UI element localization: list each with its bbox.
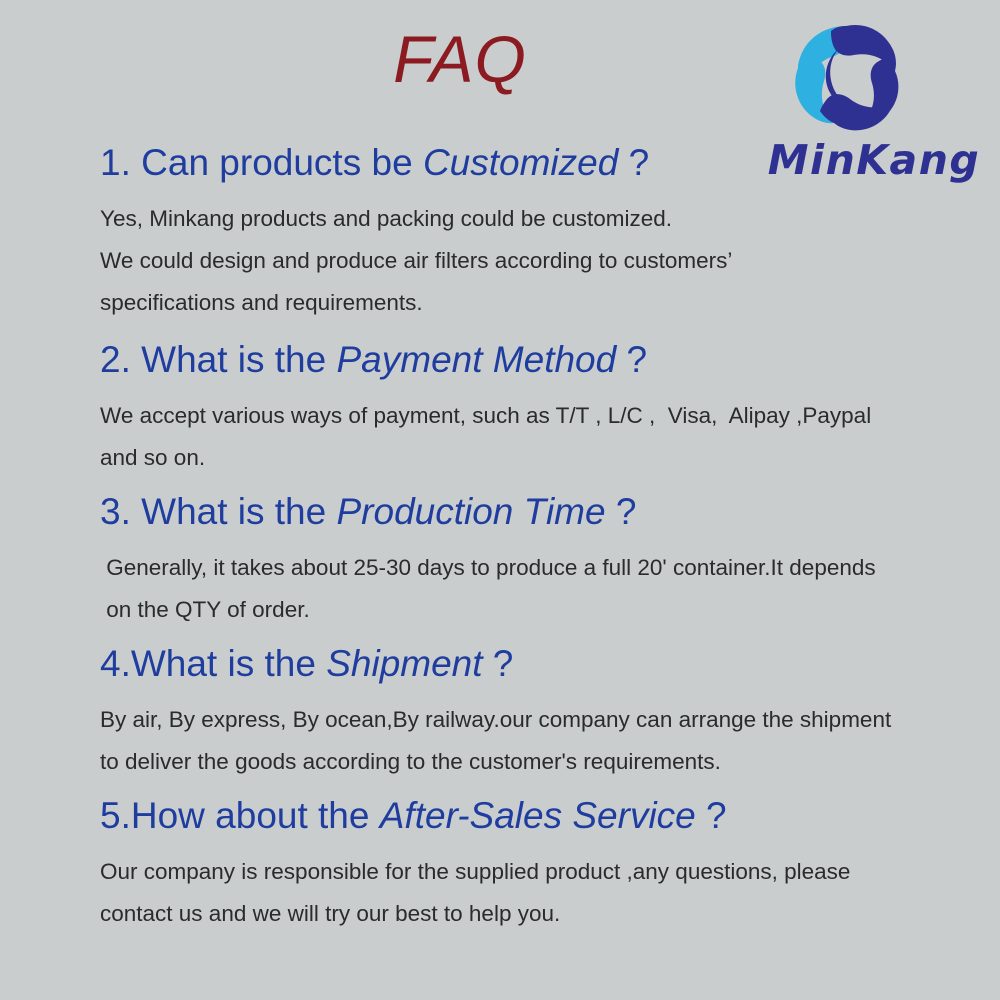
faq-question-emphasis: Payment Method [337,339,617,380]
faq-answer-line: and so on. [100,437,980,479]
faq-answer: Our company is responsible for the suppl… [0,843,1000,935]
faq-question-tail: ? [616,339,647,380]
faq-question-emphasis: Shipment [326,643,482,684]
faq-answer-line: We accept various ways of payment, such … [100,395,980,437]
faq-question-number: 1. [100,142,141,183]
faq-item: 2. What is the Payment Method ? We accep… [0,324,1000,479]
faq-answer-line: contact us and we will try our best to h… [100,893,980,935]
faq-question-emphasis: After-Sales Service [380,795,696,836]
faq-answer-line: on the QTY of order. [100,589,980,631]
minkang-swirl-logo-icon [784,14,908,138]
faq-answer-line: Yes, Minkang products and packing could … [100,198,980,240]
faq-question-emphasis: Customized [423,142,618,183]
faq-question-tail: ? [618,142,649,183]
faq-question-lead: How about the [131,795,380,836]
faq-question: 3. What is the Production Time ? [0,479,1000,539]
faq-item: 1. Can products be Customized ? Yes, Min… [0,132,1000,324]
faq-question-emphasis: Production Time [337,491,606,532]
faq-answer-line: Generally, it takes about 25-30 days to … [100,547,980,589]
faq-answer-line: We could design and produce air filters … [100,240,980,282]
faq-question: 5.How about the After-Sales Service ? [0,783,1000,843]
faq-question-tail: ? [483,643,514,684]
faq-item: 5.How about the After-Sales Service ? Ou… [0,783,1000,935]
faq-answer-line: specifications and requirements. [100,282,980,324]
faq-question-lead: What is the [141,491,336,532]
faq-question-lead: What is the [141,339,336,380]
faq-question-number: 4. [100,643,131,684]
faq-question-tail: ? [696,795,727,836]
faq-question-number: 2. [100,339,141,380]
faq-item: 4.What is the Shipment ? By air, By expr… [0,631,1000,783]
faq-answer-line: By air, By express, By ocean,By railway.… [100,699,980,741]
faq-answer: We accept various ways of payment, such … [0,387,1000,479]
faq-question-lead: What is the [131,643,326,684]
faq-question-lead: Can products be [141,142,423,183]
faq-answer: Yes, Minkang products and packing could … [0,190,1000,324]
faq-answer: By air, By express, By ocean,By railway.… [0,691,1000,783]
faq-item: 3. What is the Production Time ? General… [0,479,1000,631]
faq-answer: Generally, it takes about 25-30 days to … [0,539,1000,631]
faq-question-number: 3. [100,491,141,532]
faq-list: 1. Can products be Customized ? Yes, Min… [0,132,1000,935]
faq-question: 4.What is the Shipment ? [0,631,1000,691]
faq-answer-line: to deliver the goods according to the cu… [100,741,980,783]
faq-answer-line: Our company is responsible for the suppl… [100,851,980,893]
faq-question: 2. What is the Payment Method ? [0,324,1000,387]
faq-question-tail: ? [606,491,637,532]
faq-question: 1. Can products be Customized ? [0,132,1000,190]
faq-question-number: 5. [100,795,131,836]
